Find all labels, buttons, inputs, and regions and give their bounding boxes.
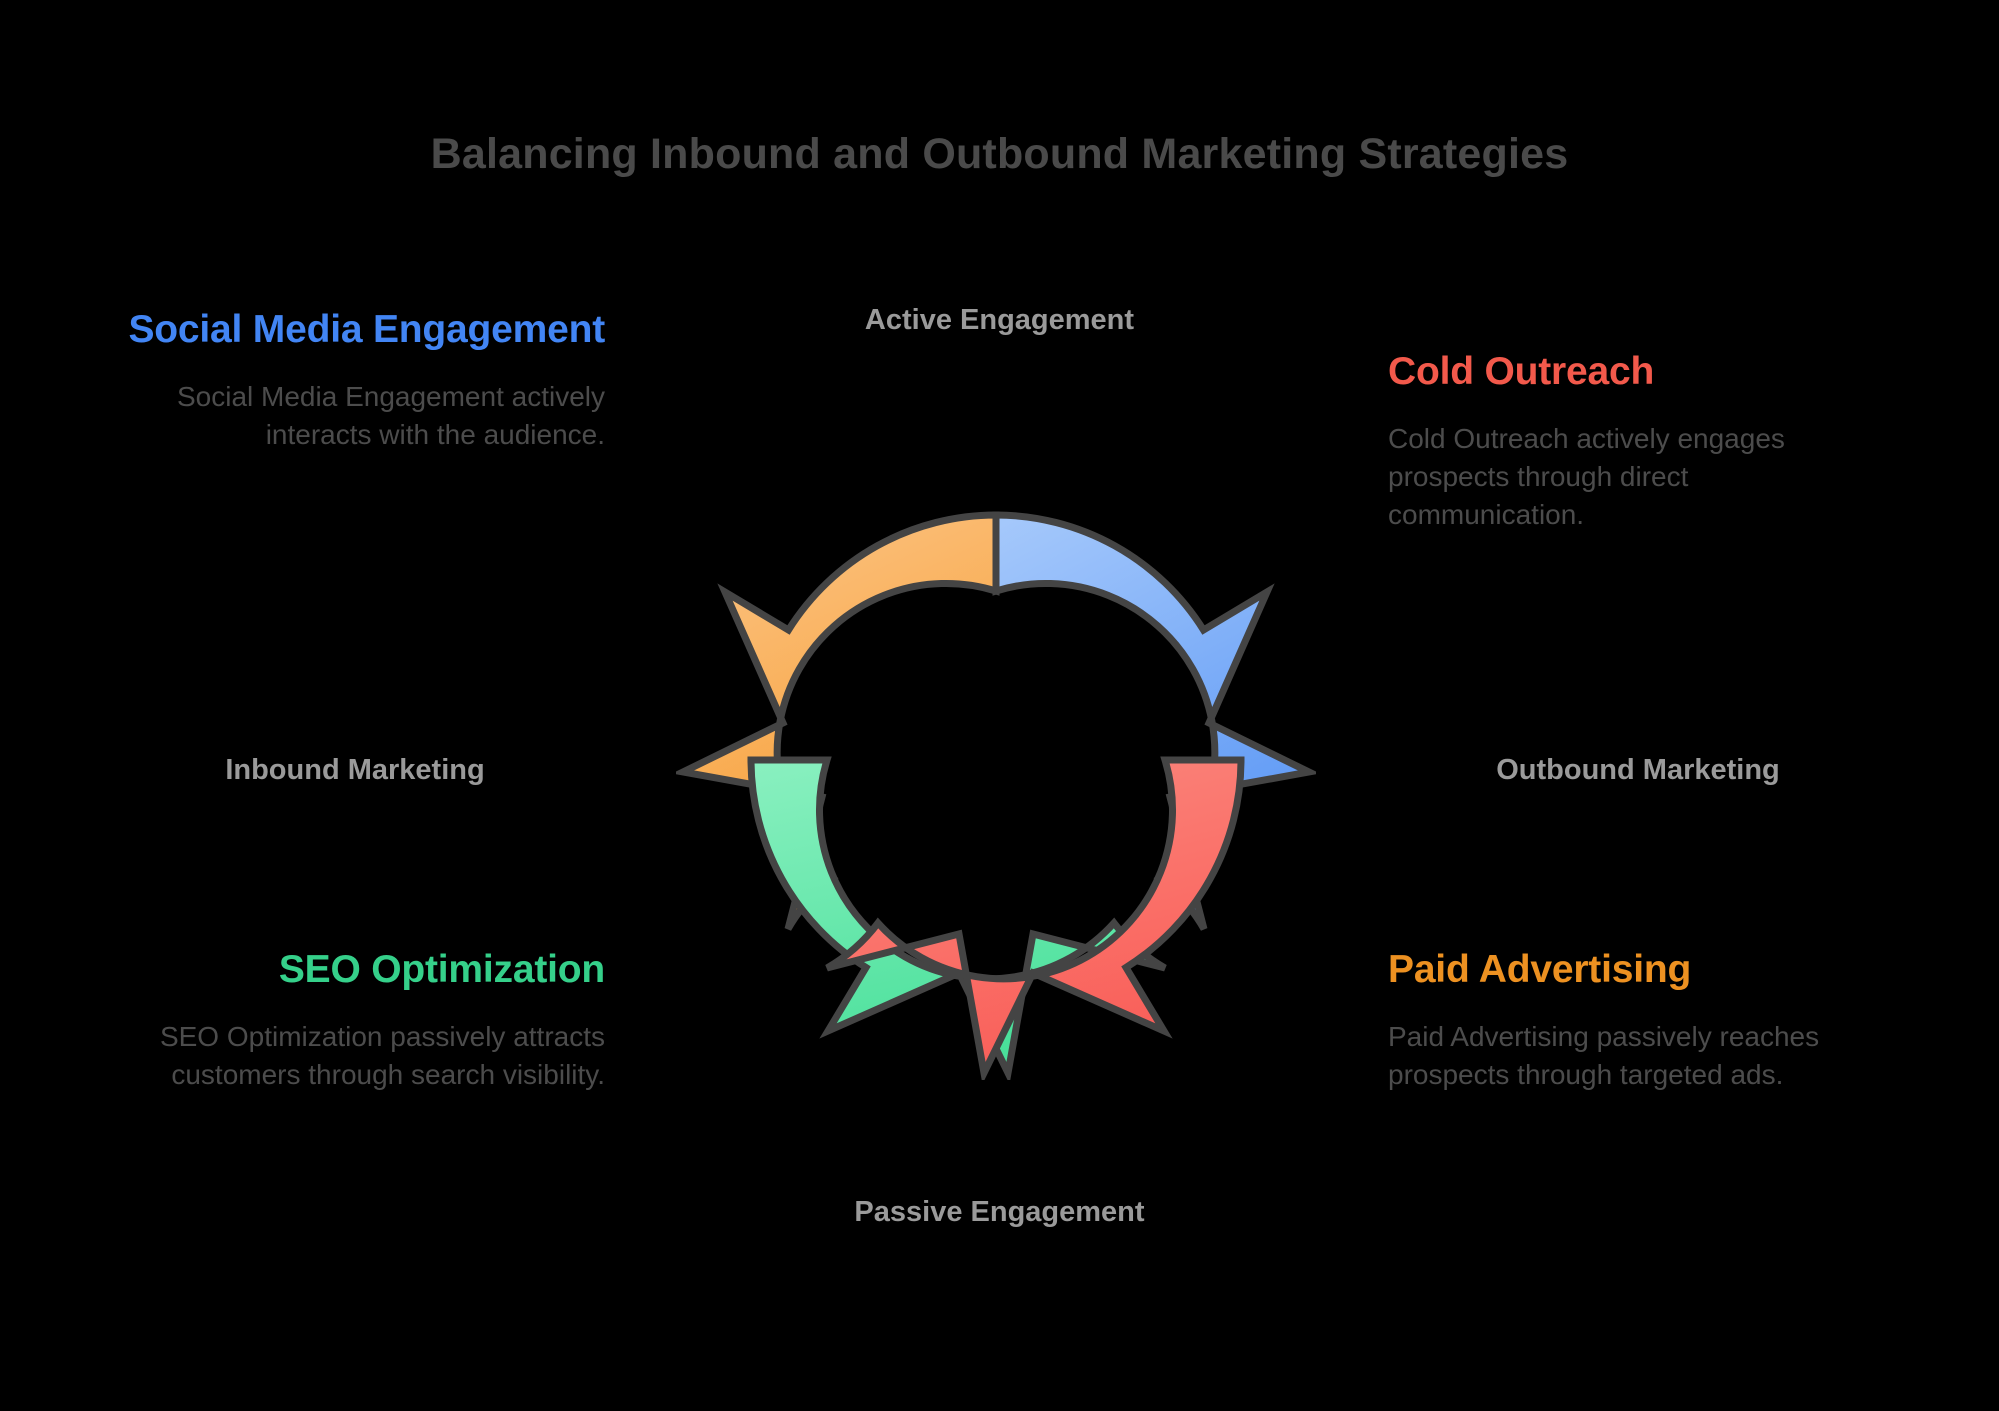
panel-body-cold-outreach: Cold Outreach actively engages prospects… — [1388, 420, 1888, 534]
panel-heading-seo-optimization: SEO Optimization — [105, 948, 605, 992]
arc-segment-paid-advertising — [827, 760, 1241, 1073]
panel-body-social-media-engagement: Social Media Engagement actively interac… — [105, 378, 605, 454]
axis-label-passive-engagement: Passive Engagement — [0, 1196, 1999, 1229]
panel-social-media-engagement: Social Media Engagement Social Media Eng… — [105, 308, 605, 454]
arc-segment-cold-outreach — [996, 515, 1309, 929]
cycle-diagram — [676, 440, 1316, 1080]
panel-body-seo-optimization: SEO Optimization passively attracts cust… — [105, 1018, 605, 1094]
panel-heading-social-media-engagement: Social Media Engagement — [105, 308, 605, 352]
axis-label-outbound-marketing: Outbound Marketing — [1388, 754, 1888, 787]
panel-cold-outreach: Cold Outreach Cold Outreach actively eng… — [1388, 350, 1888, 534]
panel-paid-advertising: Paid Advertising Paid Advertising passiv… — [1388, 948, 1888, 1094]
panel-body-paid-advertising: Paid Advertising passively reaches prosp… — [1388, 1018, 1888, 1094]
panel-seo-optimization: SEO Optimization SEO Optimization passiv… — [105, 948, 605, 1094]
axis-label-inbound-marketing: Inbound Marketing — [105, 754, 605, 787]
arc-segment-seo-optimization — [751, 760, 1165, 1073]
panel-heading-cold-outreach: Cold Outreach — [1388, 350, 1888, 394]
arc-segment-social-media — [683, 515, 996, 929]
page-title: Balancing Inbound and Outbound Marketing… — [0, 130, 1999, 179]
cycle-diagram-svg — [676, 440, 1316, 1080]
panel-heading-paid-advertising: Paid Advertising — [1388, 948, 1888, 992]
